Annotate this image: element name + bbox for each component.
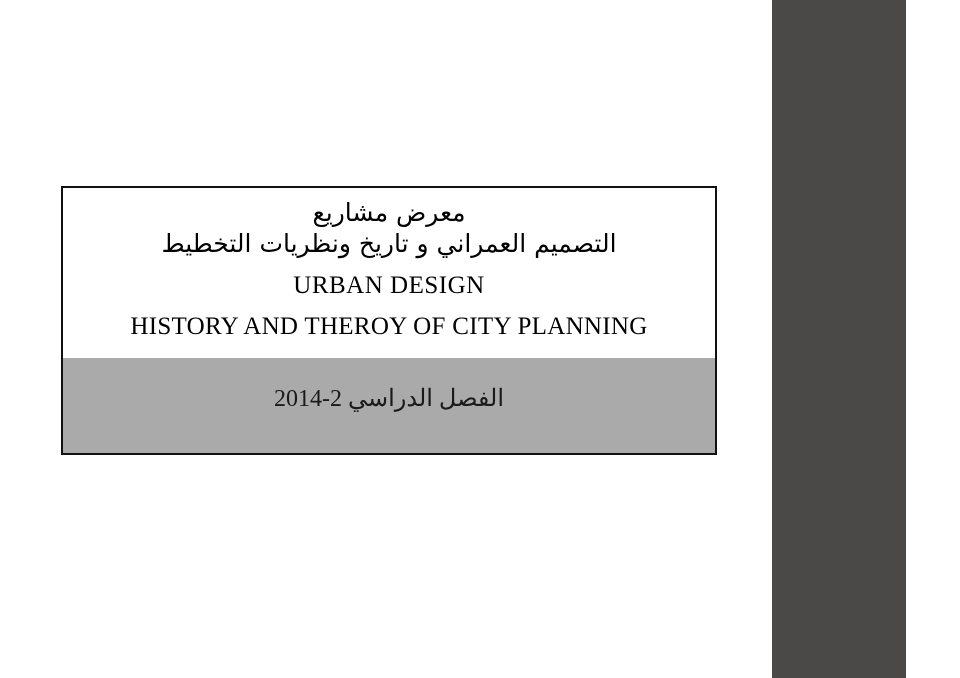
arabic-exhibition-heading: معرض مشاريع (77, 198, 701, 228)
arabic-course-heading: التصميم العمراني و تاريخ ونظريات التخطيط (77, 228, 701, 260)
title-card-upper-section: معرض مشاريع التصميم العمراني و تاريخ ونظ… (63, 188, 715, 358)
english-secondary-heading: HISTORY AND THEROY OF CITY PLANNING (77, 308, 701, 346)
decorative-side-band (772, 0, 906, 678)
title-card: معرض مشاريع التصميم العمراني و تاريخ ونظ… (61, 186, 717, 455)
slide-canvas: معرض مشاريع التصميم العمراني و تاريخ ونظ… (0, 0, 960, 678)
title-card-lower-section: الفصل الدراسي 2-2014 (63, 358, 715, 453)
english-primary-heading: URBAN DESIGN (77, 266, 701, 306)
semester-label: الفصل الدراسي 2-2014 (274, 384, 504, 414)
